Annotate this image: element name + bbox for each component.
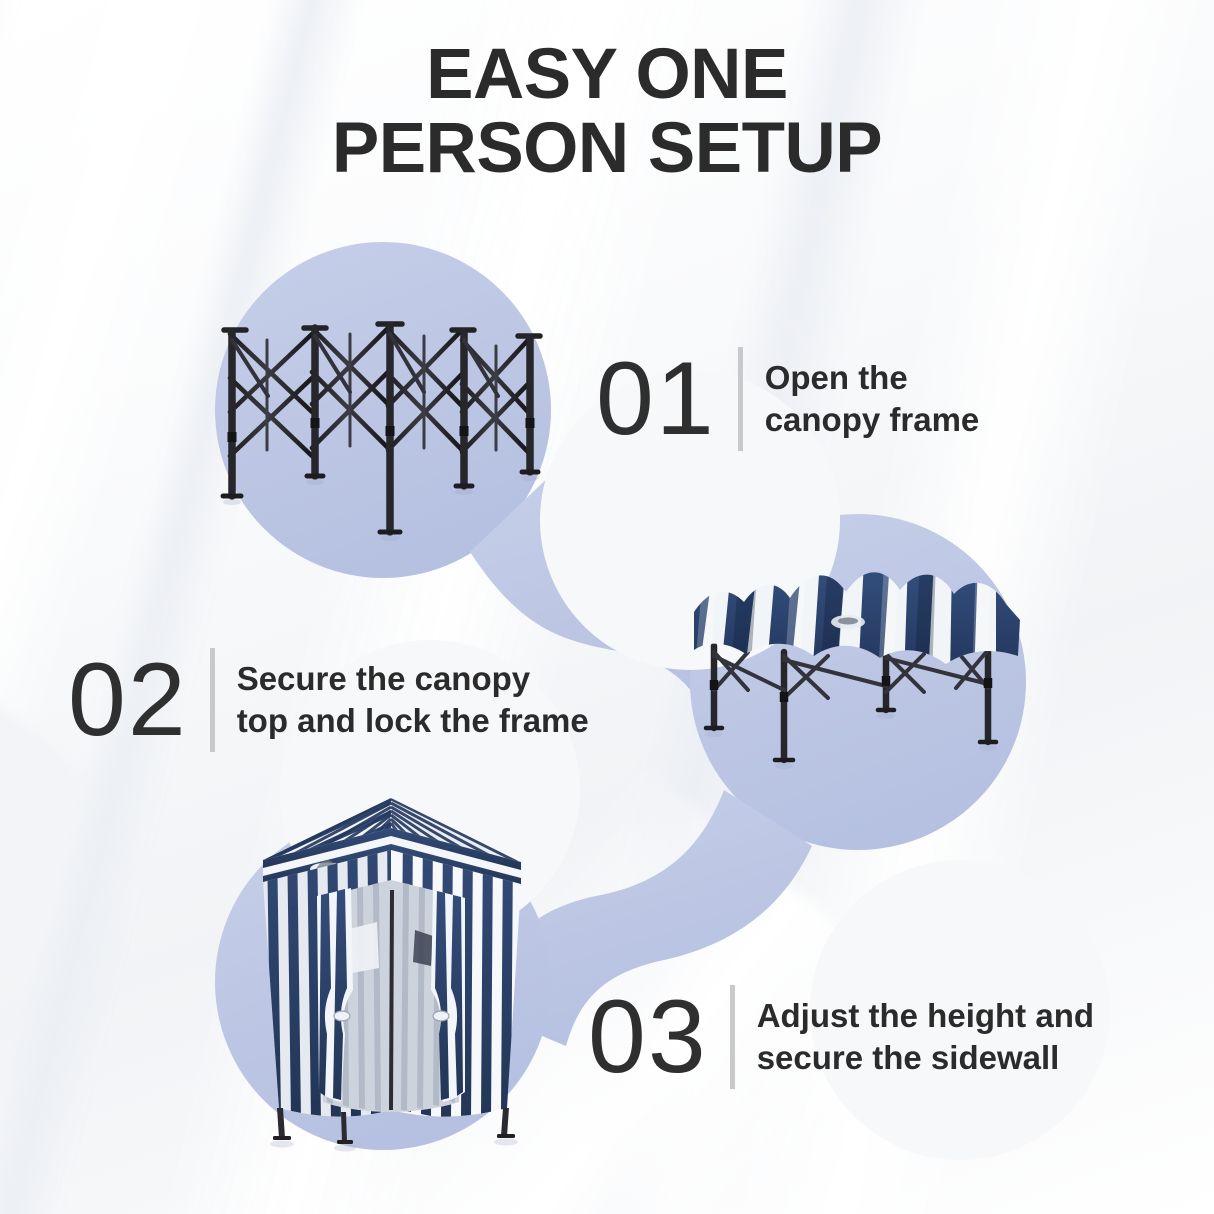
cabana-photo xyxy=(245,790,545,1160)
step-02-text-line-2: top and lock the frame xyxy=(237,700,589,742)
title-line-2: PERSON SETUP xyxy=(0,112,1214,186)
step-01: 01 Open the canopy frame xyxy=(596,347,979,451)
step-02-text: Secure the canopy top and lock the frame xyxy=(237,658,589,742)
step-02-number: 02 xyxy=(68,648,188,752)
step-03-text-line-2: secure the sidewall xyxy=(757,1037,1094,1079)
step-03-divider xyxy=(730,985,735,1089)
step-01-number: 01 xyxy=(596,347,716,451)
step-03-number: 03 xyxy=(588,985,708,1089)
infographic-page: EASY ONE PERSON SETUP xyxy=(0,0,1214,1214)
step-02-divider xyxy=(210,648,215,752)
step-02: 02 Secure the canopy top and lock the fr… xyxy=(68,648,589,752)
canopy-frame-photo xyxy=(212,300,552,540)
step-03-text: Adjust the height and secure the sidewal… xyxy=(757,995,1094,1079)
canopy-top-photo xyxy=(688,560,1028,790)
step-01-text: Open the canopy frame xyxy=(765,357,980,441)
step-02-text-line-1: Secure the canopy xyxy=(237,658,589,700)
step-03-text-line-1: Adjust the height and xyxy=(757,995,1094,1037)
step-01-text-line-1: Open the xyxy=(765,357,980,399)
step-01-text-line-2: canopy frame xyxy=(765,399,980,441)
step-03: 03 Adjust the height and secure the side… xyxy=(588,985,1094,1089)
page-title: EASY ONE PERSON SETUP xyxy=(0,38,1214,186)
step-01-divider xyxy=(738,347,743,451)
title-line-1: EASY ONE xyxy=(0,38,1214,112)
